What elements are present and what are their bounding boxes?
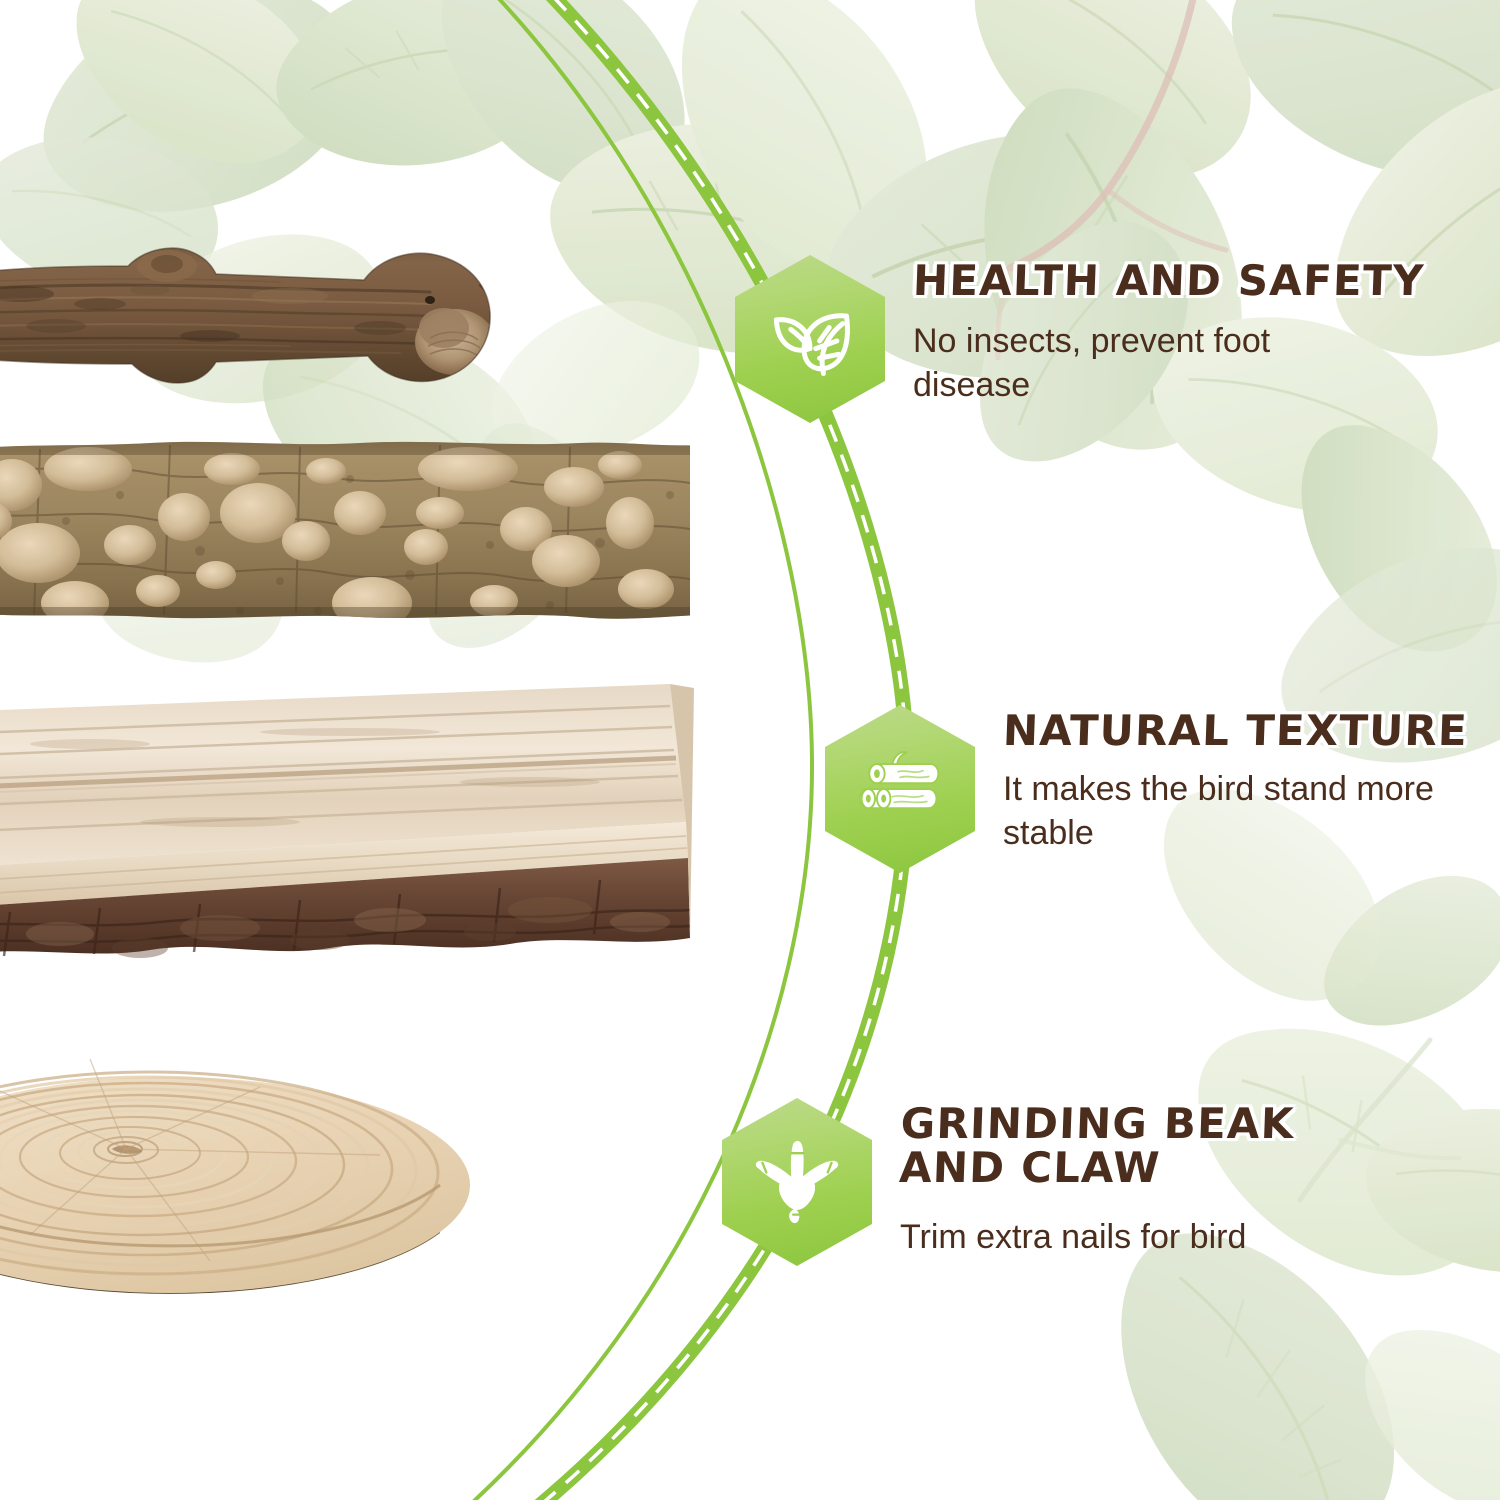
bird-claw-icon <box>749 1134 845 1230</box>
feature-block-health-and-safety: HEALTH AND SAFETY No insects, prevent fo… <box>735 255 1424 423</box>
product-photo-branch-perch <box>0 232 600 407</box>
feature-text-3: GRINDING BEAK AND CLAW Trim extra nails … <box>872 1098 1294 1260</box>
product-photo-wood-slice-platform <box>0 995 500 1325</box>
feature-hexagon-badge-1 <box>735 255 885 423</box>
feature-title-1: HEALTH AND SAFETY <box>912 259 1425 303</box>
feature-body-1: No insects, prevent foot disease <box>913 319 1383 407</box>
product-photo-knobby-log-perch <box>0 425 690 640</box>
feature-hexagon-badge-3 <box>722 1098 872 1266</box>
feature-title-2: NATURAL TEXTURE <box>1002 709 1474 753</box>
feature-body-2: It makes the bird stand more stable <box>1003 767 1473 855</box>
feature-text-1: HEALTH AND SAFETY No insects, prevent fo… <box>885 255 1424 407</box>
feature-hexagon-badge-2 <box>825 705 975 873</box>
leaf-icon <box>762 291 858 387</box>
product-photo-plank-perch <box>0 672 700 992</box>
infographic-canvas: HEALTH AND SAFETY No insects, prevent fo… <box>0 0 1500 1500</box>
log-stack-icon <box>852 741 948 837</box>
feature-body-3: Trim extra nails for bird <box>900 1215 1294 1259</box>
feature-block-grinding-beak-and-claw: GRINDING BEAK AND CLAW Trim extra nails … <box>722 1098 1294 1266</box>
feature-text-2: NATURAL TEXTURE It makes the bird stand … <box>975 705 1473 855</box>
feature-block-natural-texture: NATURAL TEXTURE It makes the bird stand … <box>825 705 1473 873</box>
feature-title-3: GRINDING BEAK AND CLAW <box>898 1102 1295 1189</box>
